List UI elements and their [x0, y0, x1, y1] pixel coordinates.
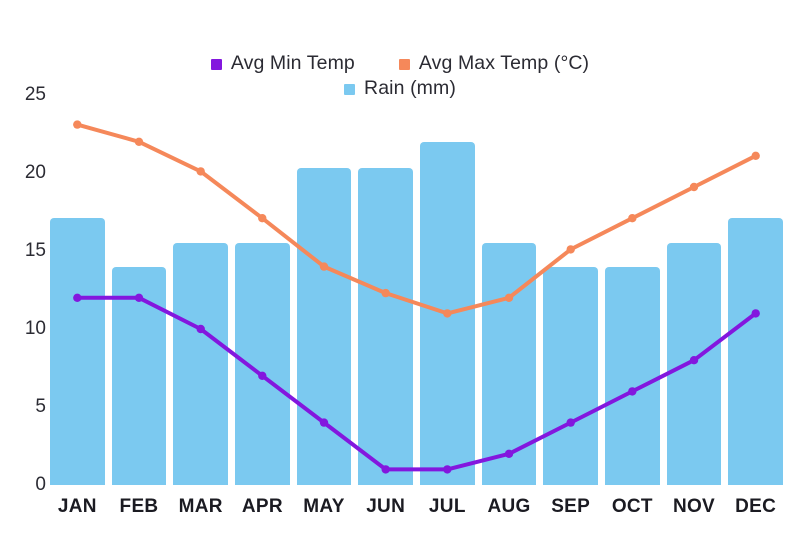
- x-axis-tick-label-dec: DEC: [735, 496, 776, 518]
- x-axis-tick-label-nov: NOV: [673, 496, 715, 518]
- plot-area: 2520151050 Avg Min Temp JAN: 12Avg Min T…: [0, 0, 800, 546]
- x-axis-tick-label-apr: APR: [242, 496, 283, 518]
- x-axis-tick-label-jun: JUN: [366, 496, 405, 518]
- x-axis-tick-label-feb: FEB: [120, 496, 159, 518]
- x-axis-tick-label-may: MAY: [303, 496, 344, 518]
- x-axis-tick-label-sep: SEP: [551, 496, 590, 518]
- x-axis-tick-label-oct: OCT: [612, 496, 653, 518]
- x-axis: JANFEBMARAPRMAYJUNJULAUGSEPOCTNOVDEC: [0, 0, 800, 546]
- x-axis-tick-label-mar: MAR: [179, 496, 223, 518]
- x-axis-tick-label-aug: AUG: [487, 496, 530, 518]
- x-axis-tick-label-jan: JAN: [58, 496, 97, 518]
- x-axis-tick-label-jul: JUL: [429, 496, 466, 518]
- weather-chart: Avg Min Temp Avg Max Temp (°C) Rain (mm)…: [0, 0, 800, 546]
